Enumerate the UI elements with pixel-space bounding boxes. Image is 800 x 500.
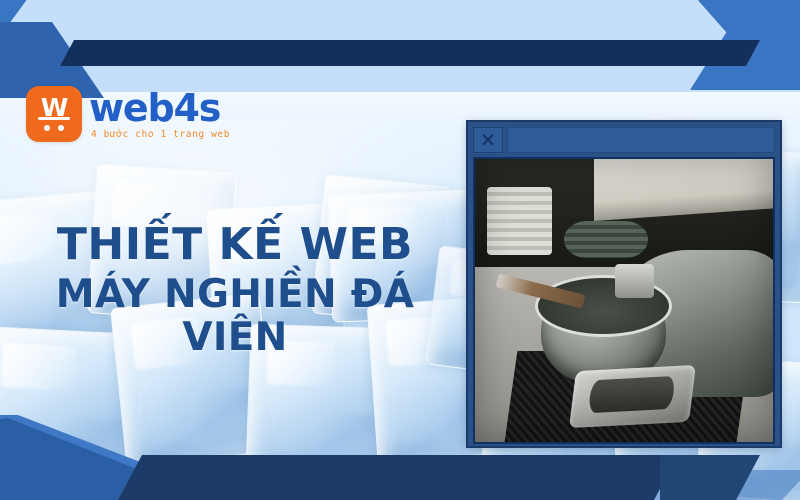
- logo-tagline: 4 bước cho 1 trang web: [89, 129, 230, 140]
- cart-wheel-left: [44, 125, 50, 131]
- close-icon[interactable]: ✕: [473, 127, 503, 153]
- top-banner-navy-stripe: [60, 40, 760, 66]
- image-window-frame: ✕: [466, 120, 782, 448]
- window-titlebar: ✕: [473, 127, 775, 153]
- bottom-banner-navy-stripe: [118, 455, 678, 500]
- poster-canvas: W web4s 4 bước cho 1 trang web THIẾT KẾ …: [0, 0, 800, 500]
- logo-name: web4s: [89, 89, 230, 127]
- brand-logo[interactable]: W web4s 4 bước cho 1 trang web: [26, 86, 230, 142]
- photo-vignette: [475, 159, 773, 442]
- window-title: [507, 127, 775, 153]
- poster-headline: THIẾT KẾ WEB MÁY NGHIỀN ĐÁ VIÊN: [0, 222, 470, 360]
- window-content: [473, 157, 775, 444]
- shopping-cart-w-icon: W: [26, 86, 82, 142]
- logo-text-block: web4s 4 bước cho 1 trang web: [89, 89, 230, 140]
- headline-line-2: MÁY NGHIỀN ĐÁ VIÊN: [0, 273, 470, 360]
- cart-wheel-right: [58, 125, 64, 131]
- ice-crusher-machine-photo: [475, 159, 773, 442]
- headline-line-1: THIẾT KẾ WEB: [0, 222, 470, 269]
- cart-handle-bar: [38, 117, 70, 120]
